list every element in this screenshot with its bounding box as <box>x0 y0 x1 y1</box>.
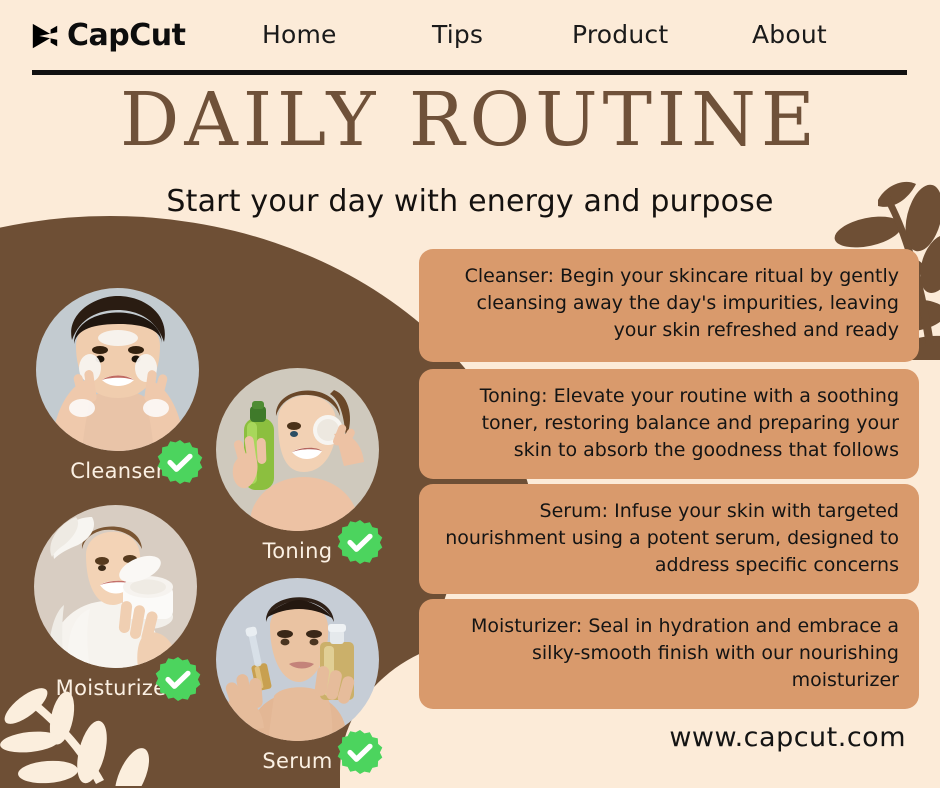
nav-item-about[interactable]: About <box>752 20 872 49</box>
description-card-cleanser: Cleanser: Begin your skincare ritual by … <box>419 249 919 362</box>
page-title: DAILY ROUTINE <box>0 82 940 160</box>
infographic-canvas: CapCut Home Tips Product About DAILY ROU… <box>0 0 940 788</box>
step-serum[interactable]: Serum <box>216 578 379 773</box>
verified-check-badge-icon <box>337 729 383 775</box>
step-toning[interactable]: Toning <box>216 368 379 563</box>
description-card-toning: Toning: Elevate your routine with a soot… <box>419 369 919 479</box>
cleanser-photo <box>36 288 199 451</box>
footer-website-url[interactable]: www.capcut.com <box>669 722 906 753</box>
step-moisturizer[interactable]: Moisturizer <box>34 505 197 700</box>
nav-item-home[interactable]: Home <box>262 20 432 49</box>
serum-photo <box>216 578 379 741</box>
description-card-serum: Serum: Infuse your skin with targeted no… <box>419 484 919 594</box>
verified-check-badge-icon <box>155 656 201 702</box>
nav-item-tips[interactable]: Tips <box>432 20 572 49</box>
verified-check-badge-icon <box>337 519 383 565</box>
header-divider <box>32 70 907 75</box>
page-subtitle: Start your day with energy and purpose <box>0 184 940 219</box>
verified-check-badge-icon <box>157 439 203 485</box>
brand-logo[interactable]: CapCut <box>30 18 185 53</box>
nav-item-product[interactable]: Product <box>572 20 752 49</box>
capcut-hourglass-icon <box>30 21 60 51</box>
brand-name: CapCut <box>67 18 185 53</box>
main-navigation: Home Tips Product About <box>262 20 872 49</box>
step-cleanser[interactable]: Cleanser <box>36 288 199 483</box>
site-header: CapCut Home Tips Product About <box>0 0 940 78</box>
toning-photo <box>216 368 379 531</box>
description-card-moisturizer: Moisturizer: Seal in hydration and embra… <box>419 599 919 709</box>
moisturizer-photo <box>34 505 197 668</box>
